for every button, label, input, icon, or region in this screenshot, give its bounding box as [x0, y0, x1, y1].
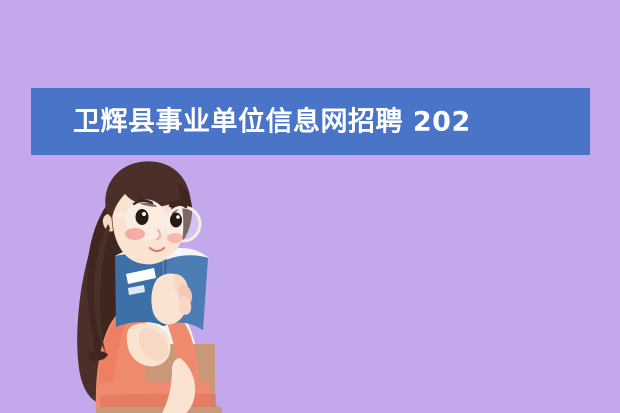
skirt-lower — [96, 407, 222, 413]
eye-right — [170, 213, 182, 228]
image-canvas: 卫辉县事业单位信息网招聘 202 — [0, 0, 620, 413]
cheek-left — [125, 228, 145, 240]
glasses-temple — [115, 215, 127, 217]
title-banner: 卫辉县事业单位信息网招聘 202 — [31, 88, 590, 155]
cheek-right — [167, 233, 183, 243]
eye-right-highlight — [176, 215, 180, 219]
eye-left-highlight — [142, 212, 146, 216]
cardigan-hem-shadow — [100, 394, 216, 408]
eye-left — [136, 209, 149, 225]
glasses-bridge — [165, 219, 169, 221]
reading-woman-illustration — [40, 158, 240, 413]
banner-title-text: 卫辉县事业单位信息网招聘 202 — [73, 108, 471, 135]
